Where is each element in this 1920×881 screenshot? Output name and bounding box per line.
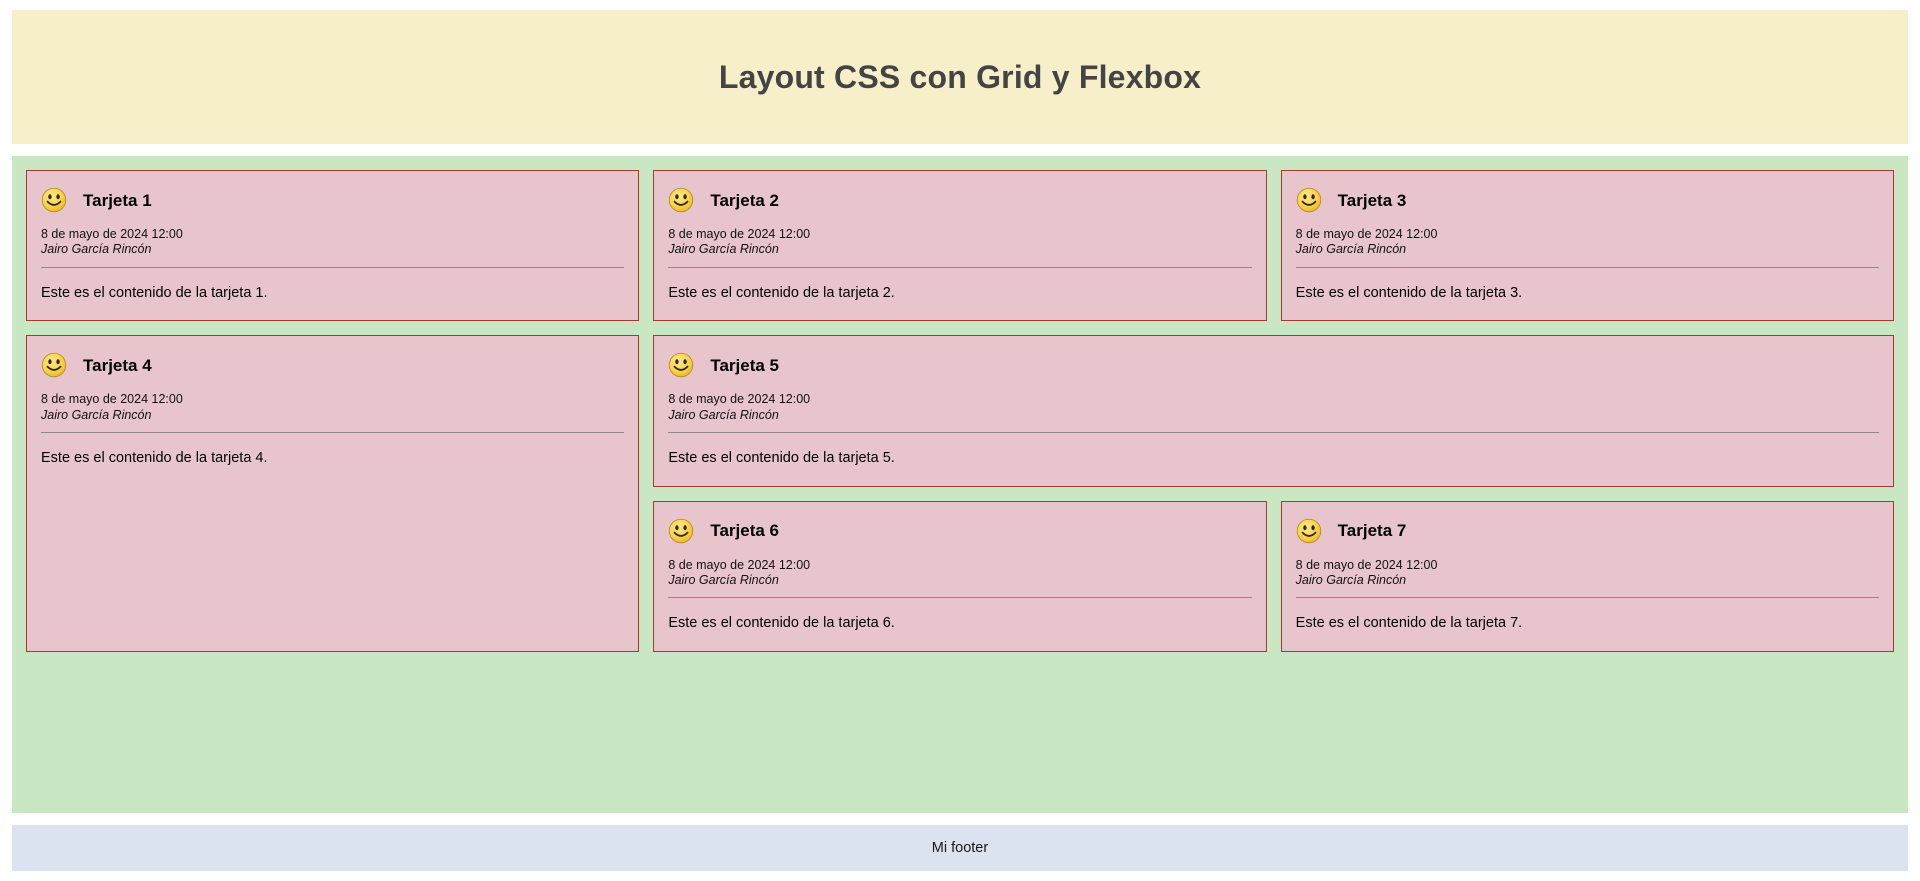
card-meta: 8 de mayo de 2024 12:00 Jairo García Rin… — [668, 558, 1251, 589]
card-date: 8 de mayo de 2024 12:00 — [668, 392, 810, 406]
card-tarjeta-5[interactable]: Tarjeta 5 8 de mayo de 2024 12:00 Jairo … — [653, 335, 1894, 486]
card-header: Tarjeta 7 — [1296, 518, 1879, 544]
card-author: Jairo García Rincón — [668, 242, 1251, 257]
card-date: 8 de mayo de 2024 12:00 — [668, 558, 810, 572]
card-content: Este es el contenido de la tarjeta 1. — [41, 284, 624, 303]
card-title: Tarjeta 5 — [710, 357, 779, 374]
card-content: Este es el contenido de la tarjeta 5. — [668, 449, 1879, 468]
smiley-face-icon — [668, 352, 694, 378]
card-author: Jairo García Rincón — [41, 408, 624, 423]
card-title: Tarjeta 2 — [710, 192, 779, 209]
card-content: Este es el contenido de la tarjeta 7. — [1296, 614, 1879, 633]
card-meta: 8 de mayo de 2024 12:00 Jairo García Rin… — [1296, 227, 1879, 258]
smiley-face-icon — [668, 518, 694, 544]
card-header: Tarjeta 1 — [41, 187, 624, 213]
card-author: Jairo García Rincón — [668, 408, 1879, 423]
card-header: Tarjeta 3 — [1296, 187, 1879, 213]
card-tarjeta-7[interactable]: Tarjeta 7 8 de mayo de 2024 12:00 Jairo … — [1281, 501, 1894, 652]
smiley-face-icon — [1296, 187, 1322, 213]
card-tarjeta-2[interactable]: Tarjeta 2 8 de mayo de 2024 12:00 Jairo … — [653, 170, 1266, 321]
card-tarjeta-3[interactable]: Tarjeta 3 8 de mayo de 2024 12:00 Jairo … — [1281, 170, 1894, 321]
cards-grid: Tarjeta 1 8 de mayo de 2024 12:00 Jairo … — [12, 156, 1908, 813]
page-title: Layout CSS con Grid y Flexbox — [719, 59, 1201, 96]
card-meta: 8 de mayo de 2024 12:00 Jairo García Rin… — [1296, 558, 1879, 589]
card-header: Tarjeta 2 — [668, 187, 1251, 213]
card-header: Tarjeta 4 — [41, 352, 624, 378]
card-date: 8 de mayo de 2024 12:00 — [668, 227, 810, 241]
card-divider — [668, 432, 1879, 433]
card-tarjeta-4[interactable]: Tarjeta 4 8 de mayo de 2024 12:00 Jairo … — [26, 335, 639, 652]
card-meta: 8 de mayo de 2024 12:00 Jairo García Rin… — [41, 392, 624, 423]
site-footer: Mi footer — [12, 825, 1908, 871]
card-author: Jairo García Rincón — [668, 573, 1251, 588]
smiley-face-icon — [41, 352, 67, 378]
card-divider — [1296, 597, 1879, 598]
site-header: Layout CSS con Grid y Flexbox — [12, 10, 1908, 144]
card-date: 8 de mayo de 2024 12:00 — [1296, 227, 1438, 241]
card-divider — [668, 267, 1251, 268]
smiley-face-icon — [41, 187, 67, 213]
card-author: Jairo García Rincón — [1296, 242, 1879, 257]
card-divider — [41, 432, 624, 433]
card-title: Tarjeta 4 — [83, 357, 152, 374]
smiley-face-icon — [1296, 518, 1322, 544]
smiley-face-icon — [668, 187, 694, 213]
card-content: Este es el contenido de la tarjeta 2. — [668, 284, 1251, 303]
card-date: 8 de mayo de 2024 12:00 — [41, 392, 183, 406]
card-header: Tarjeta 5 — [668, 352, 1879, 378]
card-meta: 8 de mayo de 2024 12:00 Jairo García Rin… — [668, 392, 1879, 423]
card-content: Este es el contenido de la tarjeta 3. — [1296, 284, 1879, 303]
card-content: Este es el contenido de la tarjeta 6. — [668, 614, 1251, 633]
footer-text: Mi footer — [932, 840, 988, 856]
card-header: Tarjeta 6 — [668, 518, 1251, 544]
card-date: 8 de mayo de 2024 12:00 — [1296, 558, 1438, 572]
card-author: Jairo García Rincón — [1296, 573, 1879, 588]
page-root: Layout CSS con Grid y Flexbox — [0, 0, 1920, 881]
card-tarjeta-1[interactable]: Tarjeta 1 8 de mayo de 2024 12:00 Jairo … — [26, 170, 639, 321]
card-title: Tarjeta 1 — [83, 192, 152, 209]
card-tarjeta-6[interactable]: Tarjeta 6 8 de mayo de 2024 12:00 Jairo … — [653, 501, 1266, 652]
card-date: 8 de mayo de 2024 12:00 — [41, 227, 183, 241]
card-divider — [668, 597, 1251, 598]
card-title: Tarjeta 3 — [1338, 192, 1407, 209]
card-title: Tarjeta 7 — [1338, 522, 1407, 539]
card-meta: 8 de mayo de 2024 12:00 Jairo García Rin… — [41, 227, 624, 258]
card-content: Este es el contenido de la tarjeta 4. — [41, 449, 624, 468]
card-divider — [41, 267, 624, 268]
card-divider — [1296, 267, 1879, 268]
card-title: Tarjeta 6 — [710, 522, 779, 539]
card-meta: 8 de mayo de 2024 12:00 Jairo García Rin… — [668, 227, 1251, 258]
card-author: Jairo García Rincón — [41, 242, 624, 257]
